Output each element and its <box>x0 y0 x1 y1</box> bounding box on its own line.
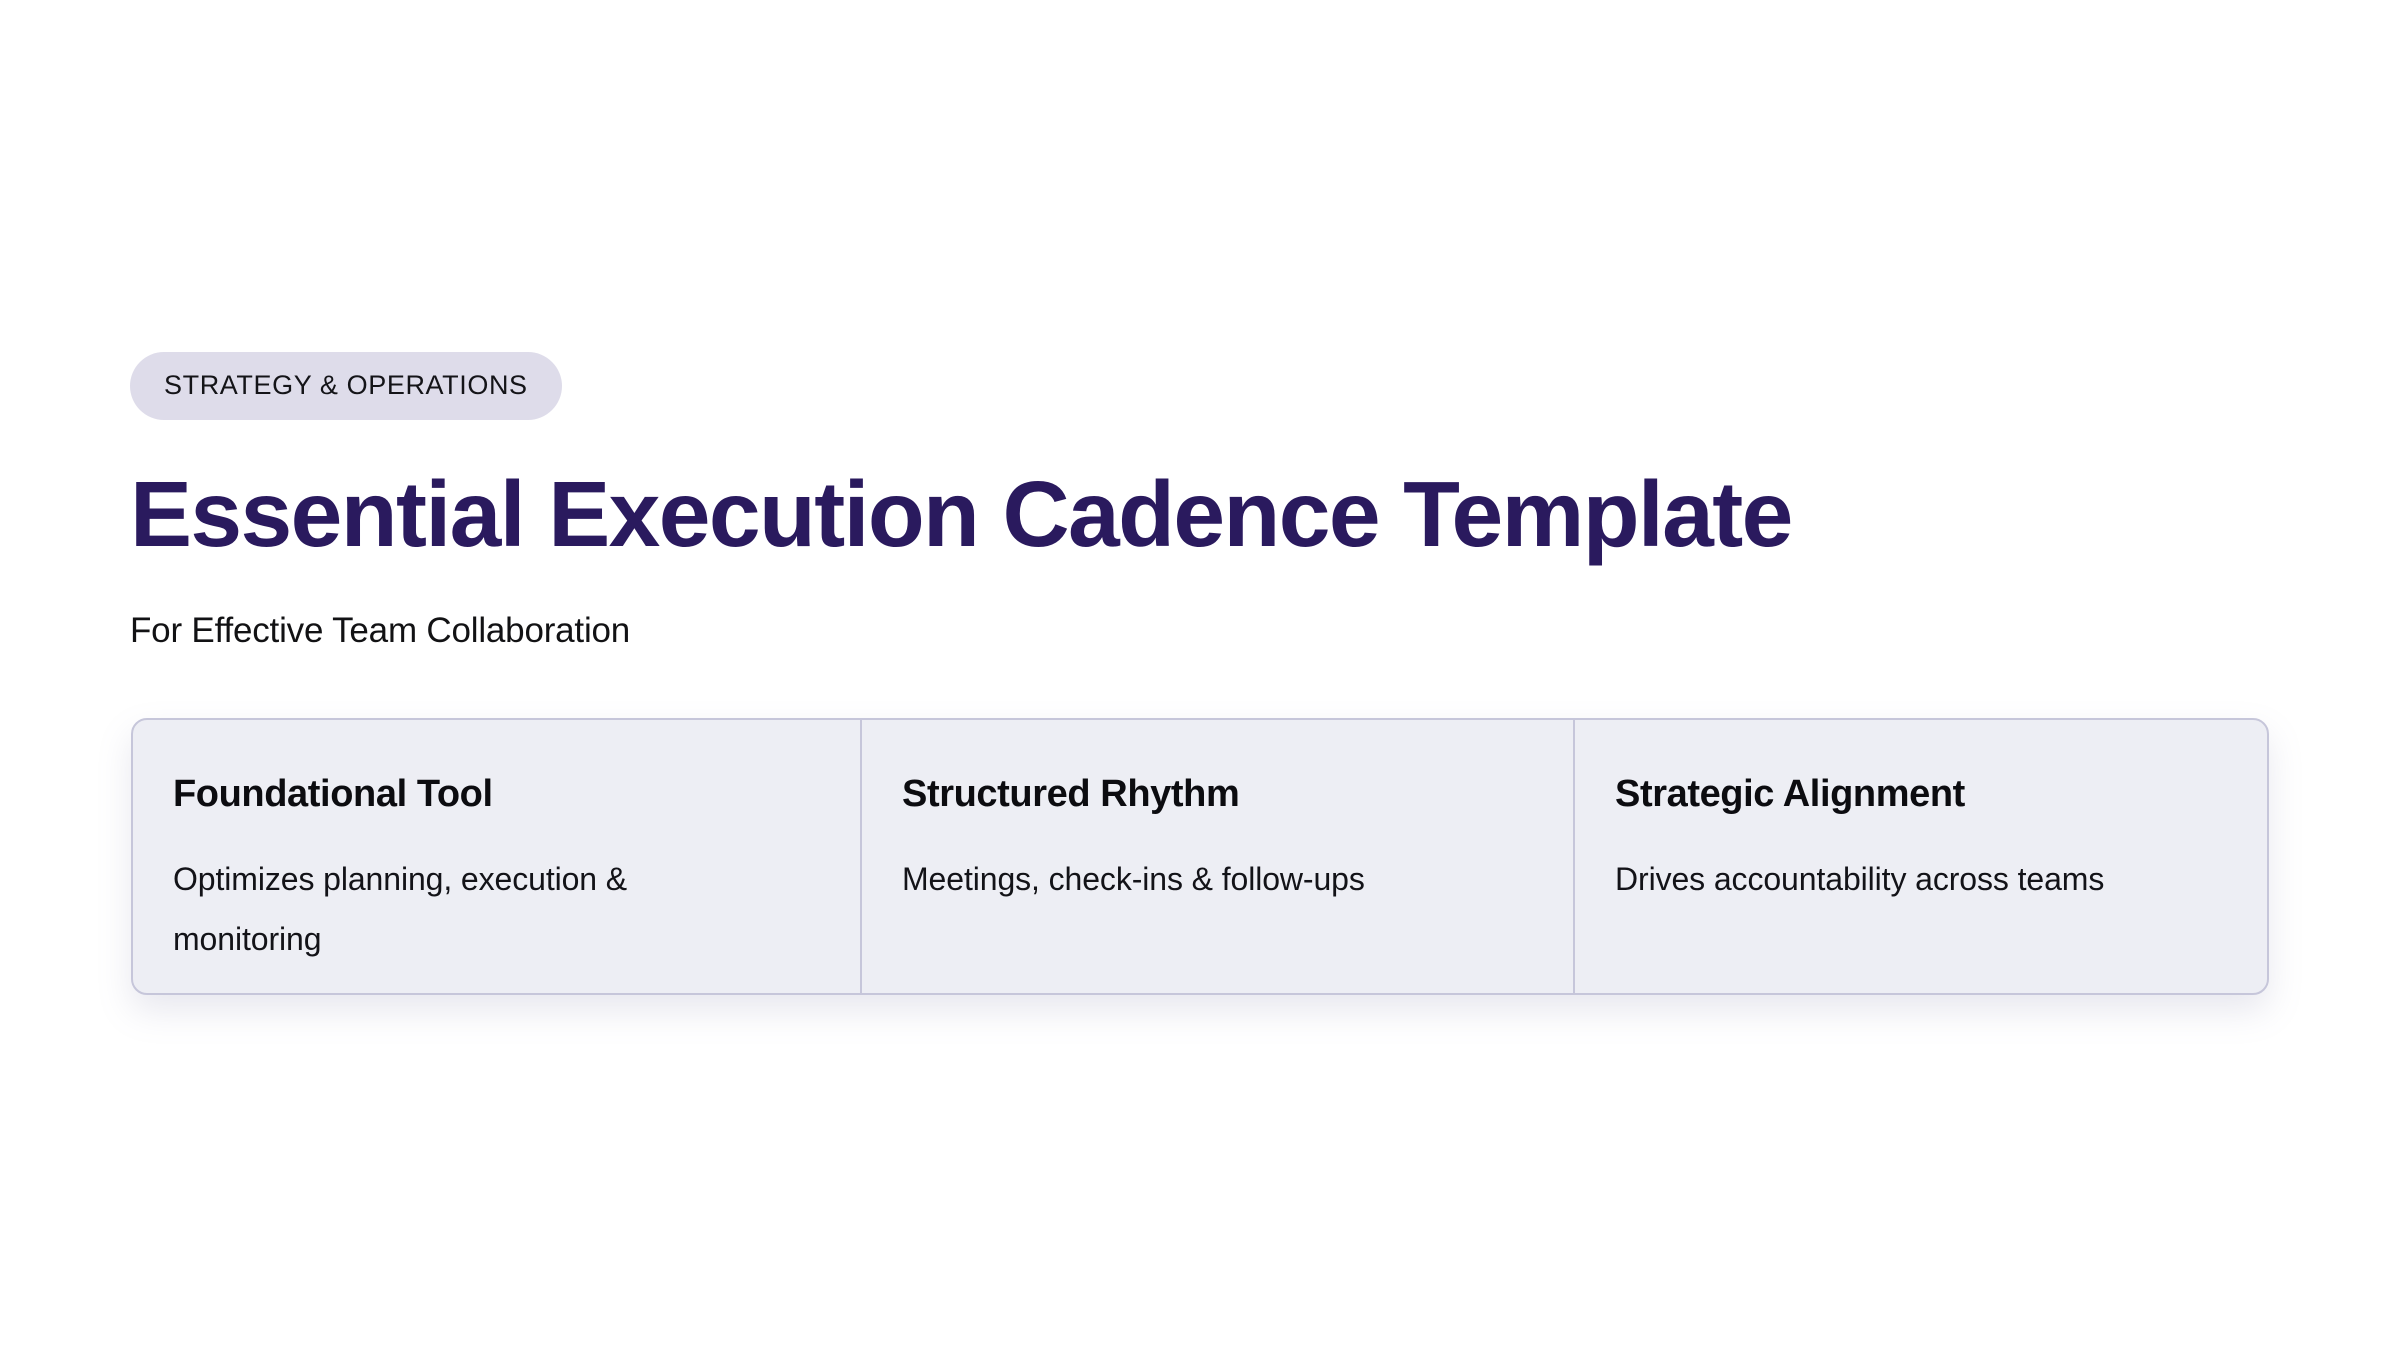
highlight-card-heading: Structured Rhythm <box>902 772 1533 816</box>
highlight-card-heading: Foundational Tool <box>173 772 820 816</box>
highlights-panel: Foundational Tool Optimizes planning, ex… <box>131 718 2269 995</box>
highlight-card: Strategic Alignment Drives accountabilit… <box>1575 720 2267 993</box>
document-page: STRATEGY & OPERATIONS Essential Executio… <box>0 0 2400 1350</box>
highlight-card-heading: Strategic Alignment <box>1615 772 2227 816</box>
page-subtitle: For Effective Team Collaboration <box>130 610 2290 652</box>
highlight-card: Foundational Tool Optimizes planning, ex… <box>133 720 862 993</box>
page-title: Essential Execution Cadence Template <box>130 462 2290 566</box>
highlight-card-body: Optimizes planning, execution & monitori… <box>173 849 753 969</box>
document-header: STRATEGY & OPERATIONS Essential Executio… <box>130 352 2290 652</box>
category-badge: STRATEGY & OPERATIONS <box>130 352 562 420</box>
highlight-card: Structured Rhythm Meetings, check-ins & … <box>862 720 1575 993</box>
highlight-card-body: Meetings, check-ins & follow-ups <box>902 849 1482 909</box>
highlight-card-body: Drives accountability across teams <box>1615 849 2195 909</box>
